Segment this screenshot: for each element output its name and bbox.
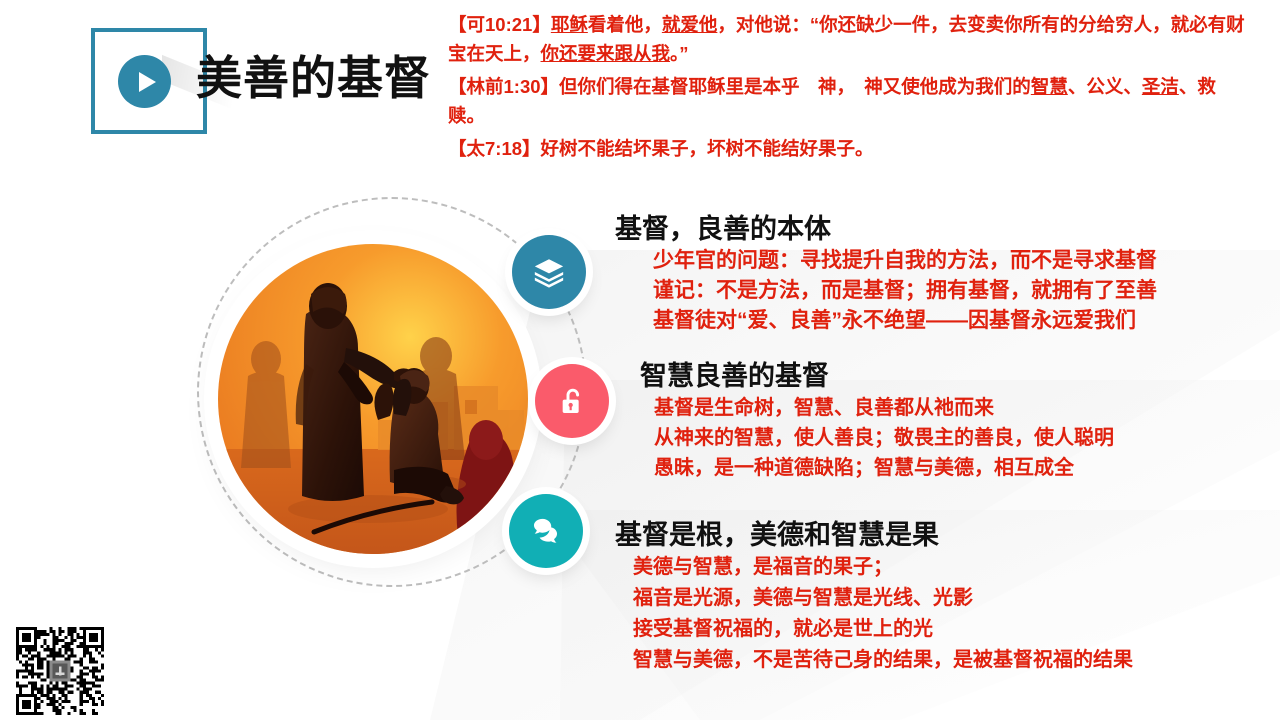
illustration-frame xyxy=(218,244,528,554)
section-heading: 智慧良善的基督 xyxy=(640,359,1114,393)
jesus-illustration xyxy=(218,244,528,554)
section-heading: 基督，良善的本体 xyxy=(615,212,1157,246)
bullet-line: 基督徒对“爱、良善”永不绝望——因基督永远爱我们 xyxy=(653,306,1157,336)
layers-stack-icon[interactable] xyxy=(512,235,586,309)
scripture-verse: 【林前1:30】但你们得在基督耶稣里是本乎 神， 神又使他成为我们的智慧、公义、… xyxy=(448,72,1248,130)
scripture-emphasis: 圣洁 xyxy=(1142,76,1179,97)
page-title: 美善的基督 xyxy=(196,42,431,108)
bullet-line: 智慧与美德，不是苦待己身的结果，是被基督祝福的结果 xyxy=(633,645,1133,676)
bullet-line: 美德与智慧，是福音的果子； xyxy=(633,552,1133,583)
unlock-padlock-icon[interactable] xyxy=(535,364,609,438)
scripture-emphasis: 耶稣 xyxy=(551,14,588,35)
scripture-emphasis: 就爱他 xyxy=(662,14,718,35)
section-lines: 少年官的问题：寻找提升自我的方法，而不是寻求基督谨记：不是方法，而是基督；拥有基… xyxy=(615,246,1157,336)
scripture-text: 但你们得在基督耶稣里是本乎 xyxy=(559,76,800,97)
scripture-reference: 【太7:18】 xyxy=(448,138,541,159)
bullet-line: 愚昧，是一种道德缺陷；智慧与美德，相互成全 xyxy=(654,453,1114,483)
section-lines: 基督是生命树，智慧、良善都从祂而来从神来的智慧，使人善良；敬畏主的善良，使人聪明… xyxy=(640,393,1114,483)
scripture-text: 神， 神又使他成为我们的 xyxy=(800,76,1031,97)
play-button-icon[interactable] xyxy=(118,55,171,108)
bullet-line: 基督是生命树，智慧、良善都从祂而来 xyxy=(654,393,1114,423)
section-3: 基督是根，美德和智慧是果 美德与智慧，是福音的果子；福音是光源，美德与智慧是光线… xyxy=(615,518,1133,676)
section-heading: 基督是根，美德和智慧是果 xyxy=(615,518,1133,552)
bullet-line: 从神来的智慧，使人善良；敬畏主的善良，使人聪明 xyxy=(654,423,1114,453)
speech-bubbles-icon[interactable] xyxy=(509,494,583,568)
section-1: 基督，良善的本体 少年官的问题：寻找提升自我的方法，而不是寻求基督谨记：不是方法… xyxy=(615,212,1157,336)
scripture-verse: 【可10:21】耶稣看着他，就爱他，对他说：“你还缺少一件，去变卖你所有的分给穷… xyxy=(448,10,1248,68)
brand-logo xyxy=(90,27,208,135)
scripture-verse: 【太7:18】好树不能结坏果子，坏树不能结好果子。 xyxy=(448,134,1248,163)
scripture-emphasis: 你还要来跟从我 xyxy=(541,43,671,64)
bullet-line: 接受基督祝福的，就必是世上的光 xyxy=(633,614,1133,645)
bullet-line: 少年官的问题：寻找提升自我的方法，而不是寻求基督 xyxy=(653,246,1157,276)
slide-root: 美善的基督 【可10:21】耶稣看着他，就爱他，对他说：“你还缺少一件，去变卖你… xyxy=(0,0,1280,720)
bullet-line: 谨记：不是方法，而是基督；拥有基督，就拥有了至善 xyxy=(653,276,1157,306)
scripture-text: 。” xyxy=(670,43,689,64)
scripture-reference: 【林前1:30】 xyxy=(448,76,559,97)
scripture-text: 看着他， xyxy=(588,14,662,35)
scripture-reference: 【可10:21】 xyxy=(448,14,551,35)
scripture-text: 、公义、 xyxy=(1068,76,1142,97)
qr-code[interactable] xyxy=(16,627,104,715)
section-lines: 美德与智慧，是福音的果子；福音是光源，美德与智慧是光线、光影接受基督祝福的，就必… xyxy=(615,552,1133,676)
scripture-text: 好树不能结坏果子，坏树不能结好果子。 xyxy=(541,138,874,159)
scripture-block: 【可10:21】耶稣看着他，就爱他，对他说：“你还缺少一件，去变卖你所有的分给穷… xyxy=(448,10,1248,167)
section-2: 智慧良善的基督 基督是生命树，智慧、良善都从祂而来从神来的智慧，使人善良；敬畏主… xyxy=(640,359,1114,483)
bullet-line: 福音是光源，美德与智慧是光线、光影 xyxy=(633,583,1133,614)
scripture-emphasis: 智慧 xyxy=(1031,76,1068,97)
